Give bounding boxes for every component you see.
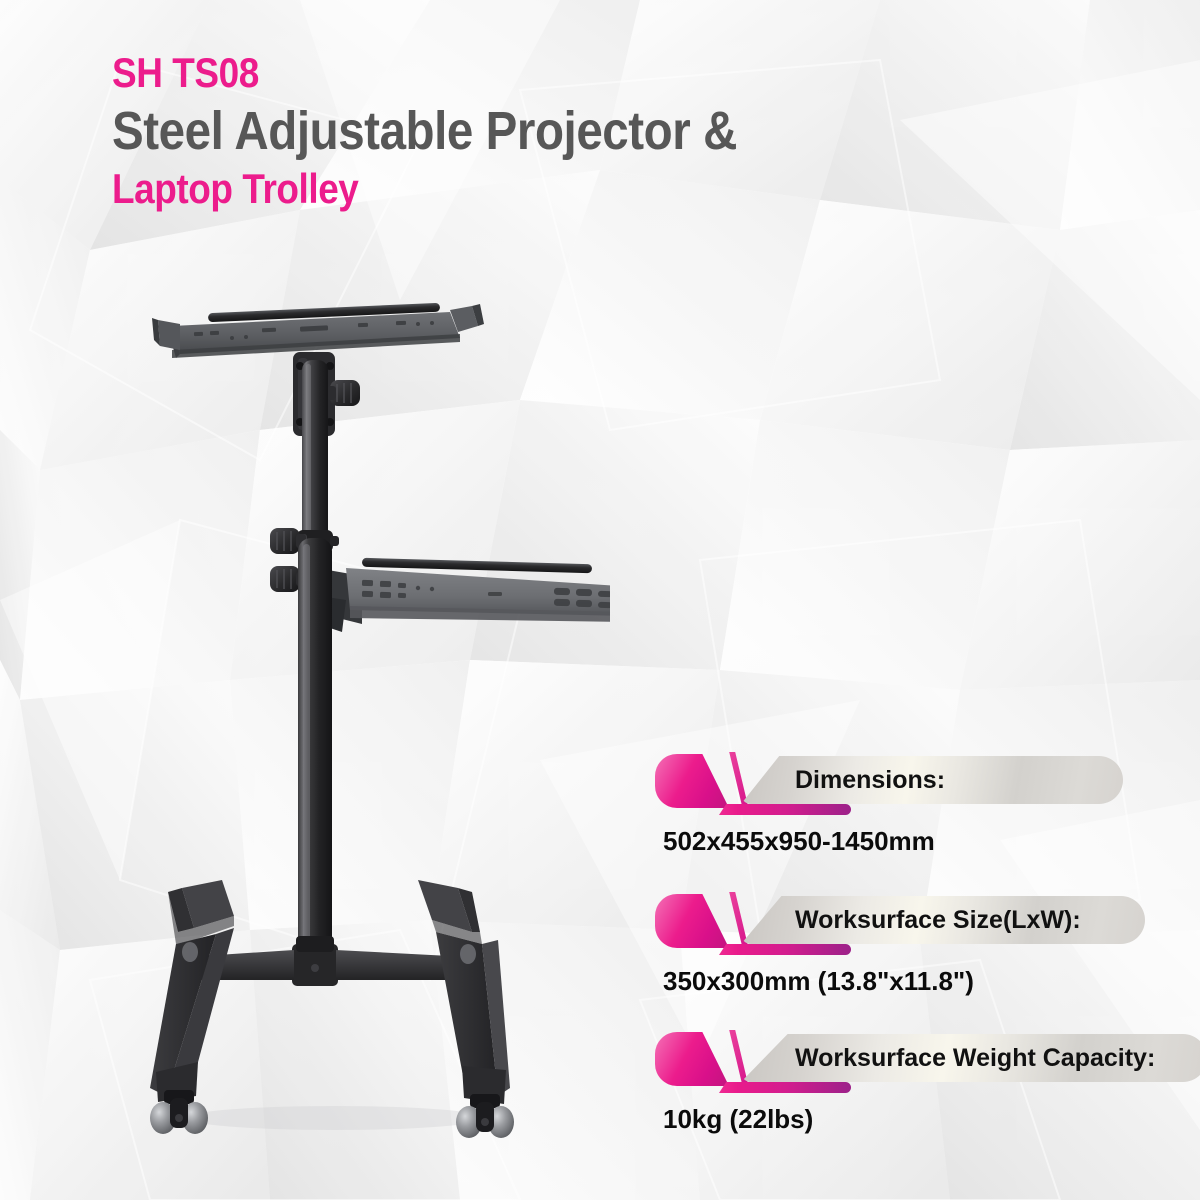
product-shadow	[185, 1106, 485, 1130]
spec-item-weight-capacity: Worksurface Weight Capacity: 10kg (22lbs…	[655, 1030, 813, 1135]
badge-underline	[733, 804, 851, 815]
product-model: SH TS08	[112, 52, 904, 94]
product-title: Steel Adjustable Projector &	[112, 104, 904, 158]
product-banner: SH TS08 Steel Adjustable Projector & Lap…	[0, 0, 1200, 1200]
caster-left-rear	[182, 942, 198, 962]
laptop-shelf	[318, 558, 610, 632]
product-image-trolley	[150, 280, 610, 1160]
spec-label: Dimensions:	[795, 756, 945, 804]
caster-right-rear	[460, 944, 476, 964]
spec-item-dimensions: Dimensions: 502x455x950-1450mm	[655, 752, 935, 857]
caster-right-front	[456, 1094, 514, 1138]
spec-label: Worksurface Weight Capacity:	[795, 1034, 1155, 1082]
badge-cap-icon	[655, 1032, 729, 1086]
badge-cap-icon	[655, 754, 729, 808]
spec-value: 350x300mm (13.8"x11.8")	[663, 966, 974, 997]
product-subtitle: Laptop Trolley	[112, 168, 904, 210]
badge-underline	[733, 1082, 851, 1093]
spec-value: 502x455x950-1450mm	[663, 826, 935, 857]
spec-item-worksurface-size: Worksurface Size(LxW): 350x300mm (13.8"x…	[655, 892, 974, 997]
headline-block: SH TS08 Steel Adjustable Projector & Lap…	[112, 52, 1012, 210]
spec-badge-worksurface-size: Worksurface Size(LxW):	[655, 892, 974, 950]
spec-badge-weight-capacity: Worksurface Weight Capacity:	[655, 1030, 813, 1088]
badge-cap-icon	[655, 894, 729, 948]
spec-badge-dimensions: Dimensions:	[655, 752, 935, 810]
spec-label: Worksurface Size(LxW):	[795, 896, 1081, 944]
upper-column	[302, 360, 328, 550]
spec-value: 10kg (22lbs)	[663, 1104, 813, 1135]
badge-underline	[733, 944, 851, 955]
